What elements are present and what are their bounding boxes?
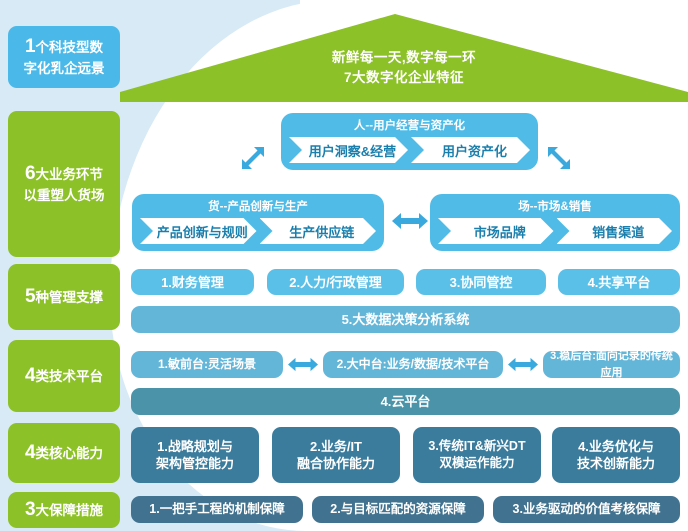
sidebar-item-vision[interactable]: 1个科技型数 字化乳企远景 xyxy=(8,26,120,88)
horizontal-double-arrow-icon-tech-2 xyxy=(508,356,538,373)
panel-market[interactable]: 场--市场&销售 市场品牌 销售渠道 xyxy=(430,194,680,251)
management-item-4[interactable]: 4.共享平台 xyxy=(558,269,680,295)
panel-goods[interactable]: 货--产品创新与生产 产品创新与规则 生产供应链 xyxy=(132,194,384,251)
sidebar-item-tech-platform-num: 4 xyxy=(25,365,36,386)
panel-people-step-2[interactable]: 用户资产化 xyxy=(411,137,530,163)
core-capability-1[interactable]: 1.战略规划与 架构管控能力 xyxy=(131,427,259,483)
core-capability-3[interactable]: 3.传统IT&新兴DT 双模运作能力 xyxy=(413,427,541,483)
sidebar-item-guarantee[interactable]: 3大保障措施 xyxy=(8,492,120,528)
panel-goods-title: 货--产品创新与生产 xyxy=(140,199,376,215)
sidebar-item-tech-platform[interactable]: 4类技术平台 xyxy=(8,340,120,412)
sidebar-item-business-links-label-2: 以重塑人货场 xyxy=(24,188,105,203)
sidebar-item-management-label: 种管理支撑 xyxy=(36,290,104,305)
guarantee-item-3[interactable]: 3.业务驱动的价值考核保障 xyxy=(493,496,680,523)
sidebar-item-core-capability[interactable]: 4类核心能力 xyxy=(8,423,120,483)
roof-title-line1: 新鲜每一天,数字每一环 xyxy=(120,48,688,68)
core-capability-4-line1: 4.业务优化与 xyxy=(578,438,654,455)
roof-title: 新鲜每一天,数字每一环 7大数字化企业特征 xyxy=(120,48,688,88)
sidebar-item-vision-label-1: 个科技型数 xyxy=(36,40,104,55)
horizontal-double-arrow-icon-tech-1 xyxy=(288,356,318,373)
management-item-5[interactable]: 5.大数据决策分析系统 xyxy=(131,306,680,333)
core-capability-2-line2: 融合协作能力 xyxy=(297,455,375,472)
panel-market-step-2[interactable]: 销售渠道 xyxy=(557,218,673,244)
core-capability-1-line2: 架构管控能力 xyxy=(156,455,234,472)
sidebar-item-core-capability-label: 类核心能力 xyxy=(36,446,104,461)
sidebar-item-business-links-label-1: 大业务环节 xyxy=(36,167,104,182)
roof-shape: 新鲜每一天,数字每一环 7大数字化企业特征 xyxy=(120,14,688,102)
panel-goods-step-2[interactable]: 生产供应链 xyxy=(260,218,377,244)
sidebar-item-guarantee-label: 大保障措施 xyxy=(36,503,104,518)
panel-market-title: 场--市场&销售 xyxy=(438,199,672,215)
panel-people-step-1[interactable]: 用户洞察&经营 xyxy=(289,137,408,163)
panel-market-steps: 市场品牌 销售渠道 xyxy=(438,218,672,244)
core-capability-4-line2: 技术创新能力 xyxy=(577,455,655,472)
sidebar-item-business-links[interactable]: 6大业务环节 以重塑人货场 xyxy=(8,111,120,257)
roof-title-line2: 7大数字化企业特征 xyxy=(120,68,688,88)
panel-people-steps: 用户洞察&经营 用户资产化 xyxy=(289,137,530,163)
panel-market-step-1[interactable]: 市场品牌 xyxy=(438,218,554,244)
sidebar-item-tech-platform-label: 类技术平台 xyxy=(36,369,104,384)
core-capability-1-line1: 1.战略规划与 xyxy=(157,438,233,455)
sidebar-item-guarantee-num: 3 xyxy=(25,499,36,520)
core-capability-4[interactable]: 4.业务优化与 技术创新能力 xyxy=(552,427,680,483)
diagonal-double-arrow-icon-left xyxy=(240,145,266,171)
management-item-2[interactable]: 2.人力/行政管理 xyxy=(267,269,404,295)
guarantee-item-2[interactable]: 2.与目标匹配的资源保障 xyxy=(312,496,484,523)
tech-platform-item-4[interactable]: 4.云平台 xyxy=(131,388,680,415)
sidebar-item-management-num: 5 xyxy=(25,286,36,307)
guarantee-item-1[interactable]: 1.一把手工程的机制保障 xyxy=(131,496,303,523)
panel-people[interactable]: 人--用户经营与资产化 用户洞察&经营 用户资产化 xyxy=(281,113,538,170)
management-item-1[interactable]: 1.财务管理 xyxy=(131,269,254,295)
core-capability-2-line1: 2.业务/IT xyxy=(310,438,362,455)
tech-platform-item-3[interactable]: 3.稳后台:面向记录的传统应用 xyxy=(543,351,680,378)
infographic-canvas: 新鲜每一天,数字每一环 7大数字化企业特征 1个科技型数 字化乳企远景 6大业务… xyxy=(0,0,688,531)
horizontal-double-arrow-icon-center xyxy=(392,211,428,231)
management-item-3[interactable]: 3.协同管控 xyxy=(416,269,546,295)
tech-platform-item-2[interactable]: 2.大中台:业务/数据/技术平台 xyxy=(323,351,503,378)
core-capability-2[interactable]: 2.业务/IT 融合协作能力 xyxy=(272,427,400,483)
sidebar-item-core-capability-num: 4 xyxy=(25,442,36,463)
panel-people-title: 人--用户经营与资产化 xyxy=(289,118,530,134)
sidebar-item-management[interactable]: 5种管理支撑 xyxy=(8,264,120,330)
sidebar-item-vision-label-2: 字化乳企远景 xyxy=(24,61,105,76)
diagonal-double-arrow-icon-right xyxy=(546,145,572,171)
panel-goods-step-1[interactable]: 产品创新与规则 xyxy=(140,218,257,244)
core-capability-3-line1: 3.传统IT&新兴DT xyxy=(428,438,525,455)
panel-goods-steps: 产品创新与规则 生产供应链 xyxy=(140,218,376,244)
sidebar-item-business-links-num: 6 xyxy=(25,163,36,184)
sidebar-item-vision-num: 1 xyxy=(25,36,36,57)
tech-platform-item-1[interactable]: 1.敏前台:灵活场景 xyxy=(131,351,283,378)
core-capability-3-line2: 双模运作能力 xyxy=(439,455,514,472)
